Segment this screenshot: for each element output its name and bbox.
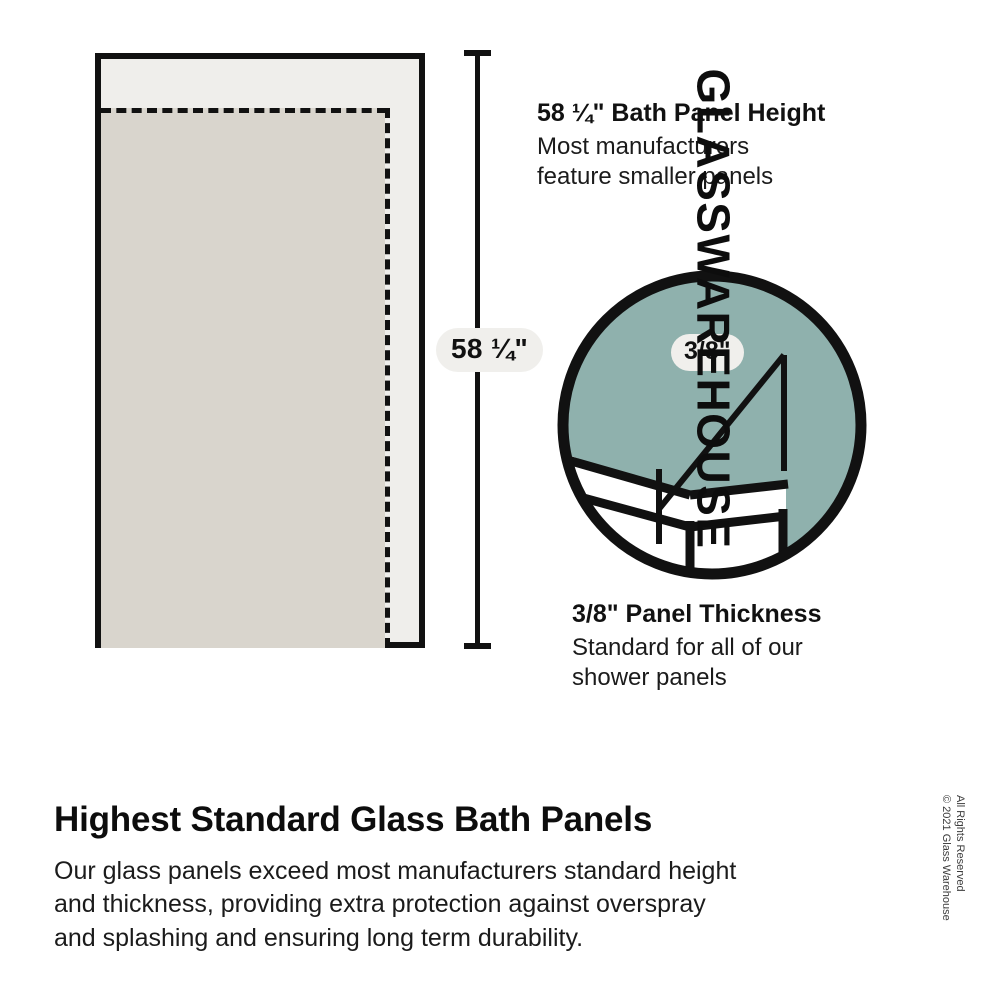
page-body: Our glass panels exceed most manufacture…: [54, 855, 874, 955]
callout-thickness-body: Standard for all of our shower panels: [572, 633, 932, 694]
page-body-line1: Our glass panels exceed most manufacture…: [54, 857, 736, 885]
brand-logo-text: GLASSWAREHOUSE: [691, 68, 737, 549]
callout-panel-thickness: 3/8" Panel Thickness Standard for all of…: [572, 600, 932, 694]
copyright-line-1: © 2021 Glass Warehouse: [939, 795, 952, 921]
panel-dashed-line-horizontal: [101, 108, 387, 113]
brand-logo: GLASSWAREHOUSE: [924, 36, 994, 596]
page-body-line3: and splashing and ensuring long term dur…: [54, 924, 583, 952]
callout-thickness-title: 3/8" Panel Thickness: [572, 600, 932, 630]
copyright-line-2: All Rights Reserved: [953, 795, 966, 892]
bottom-text-block: Highest Standard Glass Bath Panels Our g…: [54, 800, 874, 955]
glass-panel-illustration: [95, 53, 425, 648]
callout-thickness-body-line2: shower panels: [572, 664, 727, 691]
dimension-cap-bottom: [464, 643, 491, 649]
callout-thickness-body-line1: Standard for all of our: [572, 634, 803, 661]
panel-height-dimension-label: 58 ¼": [436, 328, 543, 372]
page-body-line2: and thickness, providing extra protectio…: [54, 890, 706, 918]
panel-dashed-line-vertical: [385, 108, 390, 648]
infographic-canvas: 58 ¼" 58 ¼" Bath Panel Height Most manuf…: [0, 0, 1000, 1000]
page-heading: Highest Standard Glass Bath Panels: [54, 800, 874, 839]
panel-shaded-area: [101, 108, 385, 648]
copyright-notice: © 2021 Glass Warehouse All Rights Reserv…: [938, 795, 984, 965]
